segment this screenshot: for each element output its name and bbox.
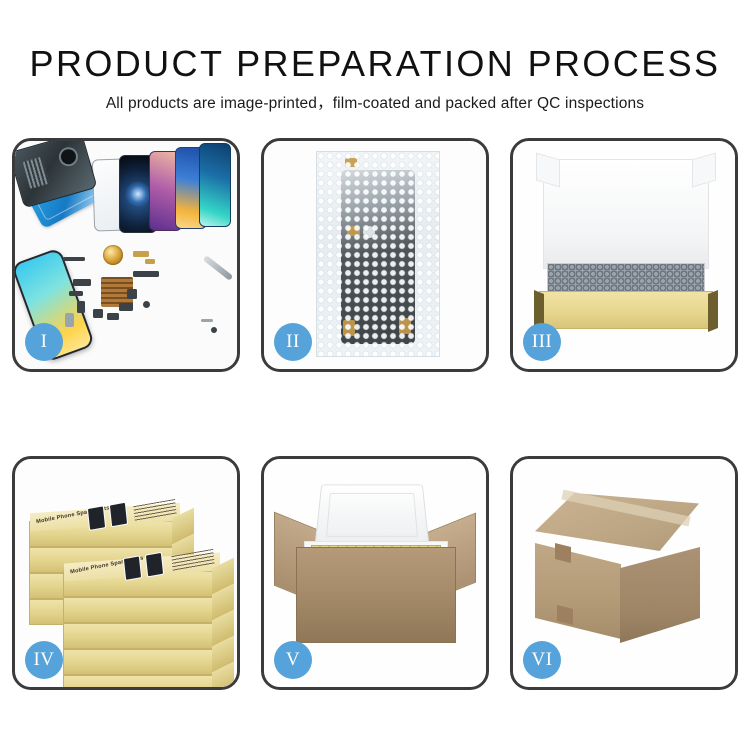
component-speaker-icon xyxy=(107,313,119,320)
process-step-panel-6: VI xyxy=(510,456,738,690)
stacked-box-front-4 xyxy=(63,649,219,675)
carton-body xyxy=(296,547,456,643)
box-top-face: Mobile Phone Spare Parts xyxy=(30,503,180,531)
tweezers-icon xyxy=(203,255,233,281)
component-screw-icon xyxy=(143,301,150,308)
component-strip-icon xyxy=(63,257,85,261)
page-subtitle: All products are image-printed，film-coat… xyxy=(0,94,750,114)
component-pin-icon xyxy=(201,319,213,322)
box-label-lines-icon-back xyxy=(133,499,176,522)
box-label-phone-icon-c xyxy=(123,555,142,581)
coil-component-icon xyxy=(103,245,123,265)
step-badge-4: IV xyxy=(25,641,63,679)
process-step-panel-4: Mobile Phone Spare Parts Mobile Phone Sp… xyxy=(12,456,240,690)
box-label-phone-icon-d xyxy=(145,552,164,578)
component-module-icon xyxy=(119,303,133,311)
process-step-panel-3: III xyxy=(510,138,738,372)
header: PRODUCT PREPARATION PROCESS All products… xyxy=(0,0,750,114)
process-step-panel-5: V xyxy=(261,456,489,690)
step-badge-6: VI xyxy=(523,641,561,679)
component-cable-icon xyxy=(77,301,85,313)
stacked-box-front-3 xyxy=(63,623,219,649)
component-gold-flex-icon xyxy=(133,251,149,257)
yellow-box-tray xyxy=(539,291,713,329)
step-2-illustration: II xyxy=(264,141,486,369)
step-4-illustration: Mobile Phone Spare Parts Mobile Phone Sp… xyxy=(15,459,237,687)
step-6-illustration: VI xyxy=(513,459,735,687)
stacked-box-front-2 xyxy=(63,597,219,623)
component-connector-icon xyxy=(69,291,83,296)
sealed-carton-front xyxy=(535,543,621,639)
process-step-panel-2: II xyxy=(261,138,489,372)
step-badge-5: V xyxy=(274,641,312,679)
component-chip-icon xyxy=(93,309,103,318)
step-badge-2: II xyxy=(274,323,312,361)
foam-lid xyxy=(314,484,429,547)
step-1-illustration: I xyxy=(15,141,237,369)
process-step-grid: I II III xyxy=(12,138,738,690)
stacked-box-front-1: Mobile Phone Spare Parts xyxy=(63,571,219,597)
component-gold-small-icon xyxy=(145,259,155,264)
product-preparation-infographic: PRODUCT PREPARATION PROCESS All products… xyxy=(0,0,750,750)
step-badge-1: I xyxy=(25,323,63,361)
sealed-carton-side xyxy=(620,547,700,643)
stacked-box-front-5 xyxy=(63,675,219,687)
box-label-phone-icon-b xyxy=(109,502,128,528)
component-block-icon xyxy=(73,279,91,286)
process-step-panel-1: I xyxy=(12,138,240,372)
page-title: PRODUCT PREPARATION PROCESS xyxy=(0,44,750,84)
step-3-illustration: III xyxy=(513,141,735,369)
component-battery-icon xyxy=(65,313,74,327)
component-camera-icon xyxy=(127,289,137,299)
step-5-illustration: V xyxy=(264,459,486,687)
step-badge-3: III xyxy=(523,323,561,361)
component-flex-long-icon xyxy=(133,271,159,277)
bubble-texture xyxy=(317,152,439,356)
component-screw-2-icon xyxy=(211,327,217,333)
stacked-box-back-1: Mobile Phone Spare Parts xyxy=(29,521,179,547)
phone-display-green-icon xyxy=(199,143,231,227)
bubble-wrap-bag xyxy=(316,151,440,357)
box-label-phone-icon-a xyxy=(87,505,106,531)
white-box-lid xyxy=(543,159,709,269)
